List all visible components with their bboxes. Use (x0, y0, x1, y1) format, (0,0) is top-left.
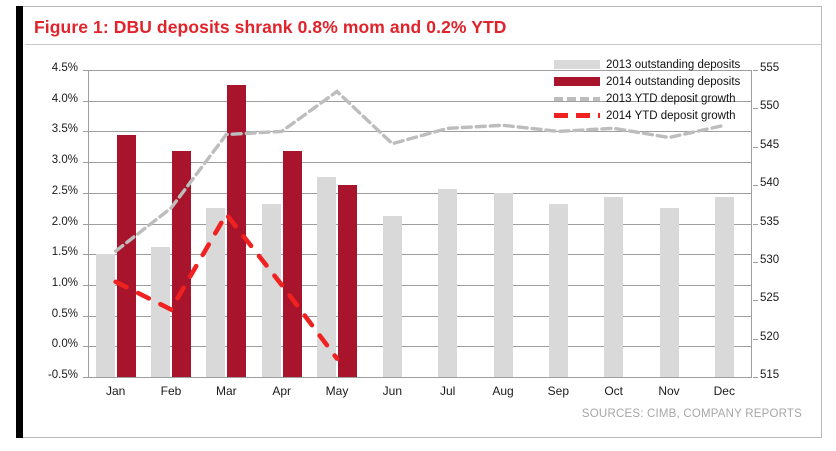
bar-2014-Jan (117, 135, 136, 377)
bar-2014-May (338, 185, 357, 377)
y-tick-mark-left (83, 101, 88, 102)
legend-label-2: 2013 YTD deposit growth (606, 93, 736, 105)
bar-2014-Mar (227, 85, 246, 377)
legend-swatch-bar-red-icon (554, 77, 600, 86)
y-tick-left: 4.0% (32, 93, 78, 105)
y-tick-right: 545 (760, 139, 806, 151)
bar-2013-Dec (715, 197, 734, 377)
gridline (88, 377, 752, 378)
legend-item-2: 2013 YTD deposit growth (554, 91, 754, 106)
y-tick-left: 4.5% (32, 62, 78, 74)
y-tick-mark-right (753, 377, 758, 378)
y-tick-left: 1.5% (32, 246, 78, 258)
x-axis-label: May (309, 384, 364, 398)
y-tick-right: 555 (760, 62, 806, 74)
figure-accent-bar (16, 6, 23, 438)
y-tick-left: 0.5% (32, 308, 78, 320)
y-tick-right: 520 (760, 331, 806, 343)
y-tick-mark-left (83, 316, 88, 317)
legend-item-1: 2014 outstanding deposits (554, 74, 754, 89)
legend-swatch-bar-grey-icon (554, 60, 600, 69)
x-axis-label: Jul (420, 384, 475, 398)
x-axis-label: Dec (697, 384, 752, 398)
x-axis-label: Jun (365, 384, 420, 398)
x-axis-label: Oct (586, 384, 641, 398)
y-tick-mark-right (753, 339, 758, 340)
legend-swatch-dashed-red-icon (554, 113, 600, 118)
y-tick-mark-left (83, 254, 88, 255)
y-tick-mark-right (753, 262, 758, 263)
y-tick-left: 0.0% (32, 338, 78, 350)
figure-panel: Figure 1: DBU deposits shrank 0.8% mom a… (0, 0, 836, 451)
y-tick-left: 3.0% (32, 154, 78, 166)
source-note: SOURCES: CIMB, COMPANY REPORTS (430, 408, 802, 420)
bar-2013-Mar (206, 208, 225, 377)
y-tick-mark-left (83, 70, 88, 71)
y-tick-right: 540 (760, 177, 806, 189)
y-tick-right: 535 (760, 216, 806, 228)
y-tick-mark-right (753, 224, 758, 225)
legend-label-0: 2013 outstanding deposits (606, 59, 740, 71)
x-axis-label: Aug (475, 384, 530, 398)
gridline (88, 131, 752, 132)
bar-2013-Oct (604, 197, 623, 377)
bar-2013-Jun (383, 216, 402, 377)
x-axis-label: Apr (254, 384, 309, 398)
figure-title: Figure 1: DBU deposits shrank 0.8% mom a… (34, 14, 634, 40)
legend: 2013 outstanding deposits 2014 outstandi… (554, 57, 754, 125)
bar-2013-Aug (494, 193, 513, 377)
x-axis-label: Nov (641, 384, 696, 398)
legend-label-3: 2014 YTD deposit growth (606, 110, 736, 122)
y-tick-mark-left (83, 285, 88, 286)
y-tick-mark-right (753, 300, 758, 301)
y-tick-mark-left (83, 162, 88, 163)
y-tick-left: -0.5% (32, 369, 78, 381)
y-tick-mark-left (83, 377, 88, 378)
bar-2013-May (317, 177, 336, 377)
y-tick-mark-left (83, 131, 88, 132)
bar-2014-Apr (283, 151, 302, 377)
y-tick-mark-right (753, 147, 758, 148)
x-axis-label: Jan (88, 384, 143, 398)
y-tick-mark-right (753, 185, 758, 186)
y-tick-mark-left (83, 224, 88, 225)
legend-item-3: 2014 YTD deposit growth (554, 108, 754, 123)
bar-2013-Nov (660, 208, 679, 377)
y-tick-right: 530 (760, 254, 806, 266)
y-tick-left: 1.0% (32, 277, 78, 289)
bar-2013-Feb (151, 247, 170, 377)
bar-2013-Apr (262, 204, 281, 377)
bar-2013-Sep (549, 204, 568, 377)
y-tick-mark-left (83, 346, 88, 347)
y-tick-left: 2.5% (32, 185, 78, 197)
bar-2013-Jan (96, 254, 115, 377)
x-axis-label: Feb (143, 384, 198, 398)
y-tick-right: 525 (760, 292, 806, 304)
y-tick-left: 3.5% (32, 123, 78, 135)
bar-2014-Feb (172, 151, 191, 377)
legend-swatch-dashed-grey-icon (554, 97, 600, 101)
y-tick-left: 2.0% (32, 216, 78, 228)
y-tick-right: 550 (760, 100, 806, 112)
x-axis-label: Mar (199, 384, 254, 398)
legend-label-1: 2014 outstanding deposits (606, 76, 740, 88)
y-tick-right: 515 (760, 369, 806, 381)
bar-2013-Jul (438, 189, 457, 377)
x-axis-label: Sep (531, 384, 586, 398)
legend-item-0: 2013 outstanding deposits (554, 57, 754, 72)
title-divider (25, 44, 821, 45)
y-tick-mark-left (83, 193, 88, 194)
